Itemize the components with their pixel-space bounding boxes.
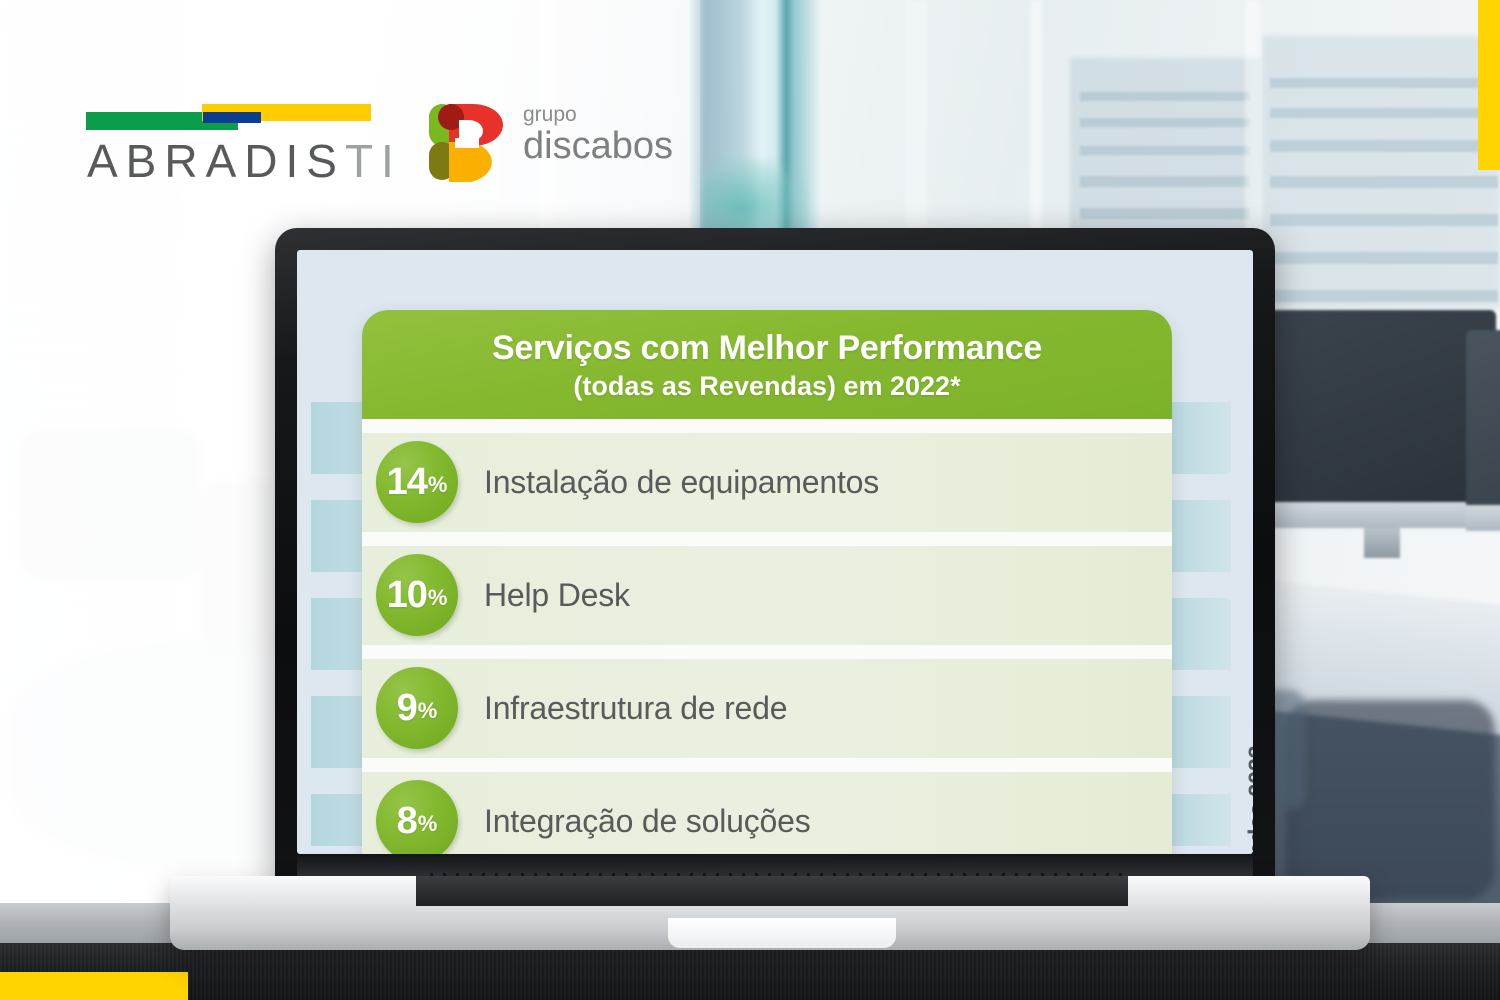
abradisti-wordmark-light: TI bbox=[345, 135, 402, 187]
chart-row-label: Integração de soluções bbox=[484, 803, 811, 840]
percentage-bubble: 10% bbox=[376, 554, 458, 636]
chart-card: Serviços com Melhor Performance (todas a… bbox=[362, 310, 1172, 854]
percentage-value: 14 bbox=[387, 461, 427, 504]
laptop-lid: Serviços com Melhor Performance (todas a… bbox=[275, 228, 1275, 888]
chart-card-header: Serviços com Melhor Performance (todas a… bbox=[362, 310, 1172, 419]
percentage-bubble: 8% bbox=[376, 780, 458, 854]
chart-row-label: Infraestrutura de rede bbox=[484, 690, 787, 727]
accent-bar-bottom-left bbox=[0, 972, 188, 1000]
chart-rows: 14% Instalação de equipamentos 10% Help … bbox=[362, 419, 1172, 855]
percentage-value: 9 bbox=[397, 687, 417, 730]
abradisti-flag-bars bbox=[86, 104, 371, 130]
chart-row-label: Instalação de equipamentos bbox=[484, 464, 879, 501]
accent-bar-top-right bbox=[1478, 0, 1500, 170]
percentage-symbol: % bbox=[418, 811, 438, 837]
chart-row: 9% Infraestrutura de rede bbox=[362, 659, 1172, 758]
chart-row: 10% Help Desk bbox=[362, 546, 1172, 645]
chart-row-label: Help Desk bbox=[484, 577, 630, 614]
percentage-symbol: % bbox=[418, 698, 438, 724]
percentage-value: 10 bbox=[387, 574, 427, 617]
percentage-value: 8 bbox=[397, 800, 417, 843]
chart-row: 14% Instalação de equipamentos bbox=[362, 433, 1172, 532]
discabos-logo: grupo discabos bbox=[425, 96, 670, 188]
chart-row: 8% Integração de soluções bbox=[362, 772, 1172, 855]
laptop-screen: Serviços com Melhor Performance (todas a… bbox=[297, 250, 1253, 854]
chart-subtitle: (todas as Revendas) em 2022* bbox=[386, 370, 1148, 402]
chart-title: Serviços com Melhor Performance bbox=[386, 328, 1148, 368]
laptop-front-notch bbox=[668, 918, 896, 948]
flag-bar-blue bbox=[203, 112, 261, 123]
source-note: *fonte Censo das Revendas 2023 bbox=[1243, 745, 1253, 854]
poster-canvas: ABRADISTI grupo discabos bbox=[0, 0, 1500, 1000]
percentage-symbol: % bbox=[428, 585, 448, 611]
discabos-kicker: grupo bbox=[523, 104, 673, 125]
percentage-bubble: 9% bbox=[376, 667, 458, 749]
laptop-mockup: Serviços com Melhor Performance (todas a… bbox=[170, 228, 1370, 928]
abradisti-wordmark-dark: ABRADIS bbox=[87, 135, 345, 187]
laptop-screen-bezel: Serviços com Melhor Performance (todas a… bbox=[297, 250, 1253, 854]
percentage-symbol: % bbox=[428, 472, 448, 498]
abradisti-logo: ABRADISTI bbox=[86, 104, 371, 194]
discabos-d-mark-icon bbox=[425, 98, 513, 186]
discabos-wordmark: discabos bbox=[523, 127, 673, 167]
abradisti-wordmark: ABRADISTI bbox=[87, 134, 402, 188]
laptop-trackpad-area bbox=[416, 876, 1128, 906]
percentage-bubble: 14% bbox=[376, 441, 458, 523]
